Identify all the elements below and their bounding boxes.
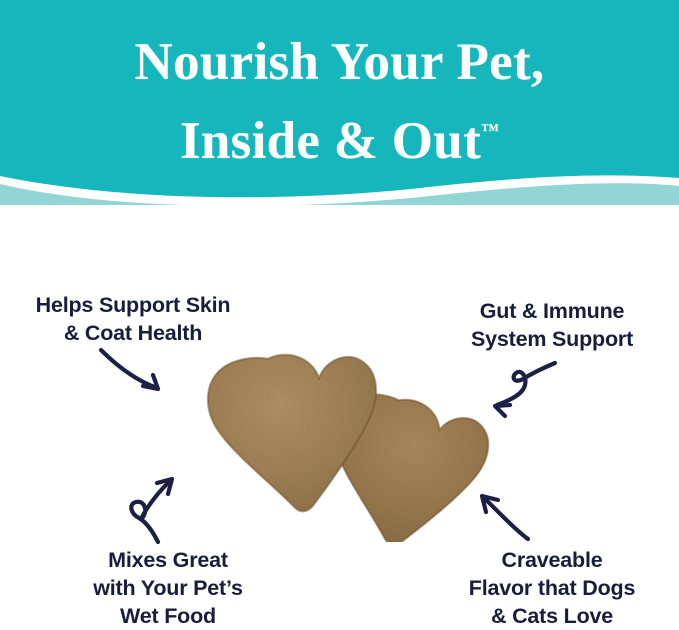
- page-title: Nourish Your Pet, Inside & Out™: [0, 0, 679, 175]
- benefit-line: Wet Food: [48, 602, 288, 630]
- benefit-line: Helps Support Skin: [8, 291, 258, 319]
- benefit-line: with Your Pet’s: [48, 574, 288, 602]
- headline-line-2: Inside & Out: [180, 112, 481, 170]
- headline-line-2-wrap: Inside & Out™: [0, 96, 679, 175]
- benefit-label-skin-coat: Helps Support Skin & Coat Health: [8, 291, 258, 347]
- benefit-line: Craveable: [428, 546, 676, 574]
- benefit-label-craveable-flavor: Craveable Flavor that Dogs & Cats Love: [428, 546, 676, 630]
- benefit-line: & Coat Health: [8, 319, 258, 347]
- benefit-label-gut-immune: Gut & Immune System Support: [432, 297, 672, 353]
- product-image-heart-treats: [183, 352, 493, 542]
- headline-line-1: Nourish Your Pet,: [0, 28, 679, 96]
- benefit-line: & Cats Love: [428, 602, 676, 630]
- benefit-line: System Support: [432, 325, 672, 353]
- benefit-line: Flavor that Dogs: [428, 574, 676, 602]
- looping-arrow-up-right-icon: [118, 472, 188, 544]
- heart-treats-illustration: [183, 352, 493, 542]
- benefit-line: Gut & Immune: [432, 297, 672, 325]
- benefit-label-mixes-wet-food: Mixes Great with Your Pet’s Wet Food: [48, 546, 288, 630]
- looping-arrow-down-left-icon: [483, 358, 563, 418]
- curved-arrow-down-right-icon: [95, 348, 175, 403]
- benefit-line: Mixes Great: [48, 546, 288, 574]
- header-banner: Nourish Your Pet, Inside & Out™: [0, 0, 679, 205]
- trademark-icon: ™: [481, 120, 499, 140]
